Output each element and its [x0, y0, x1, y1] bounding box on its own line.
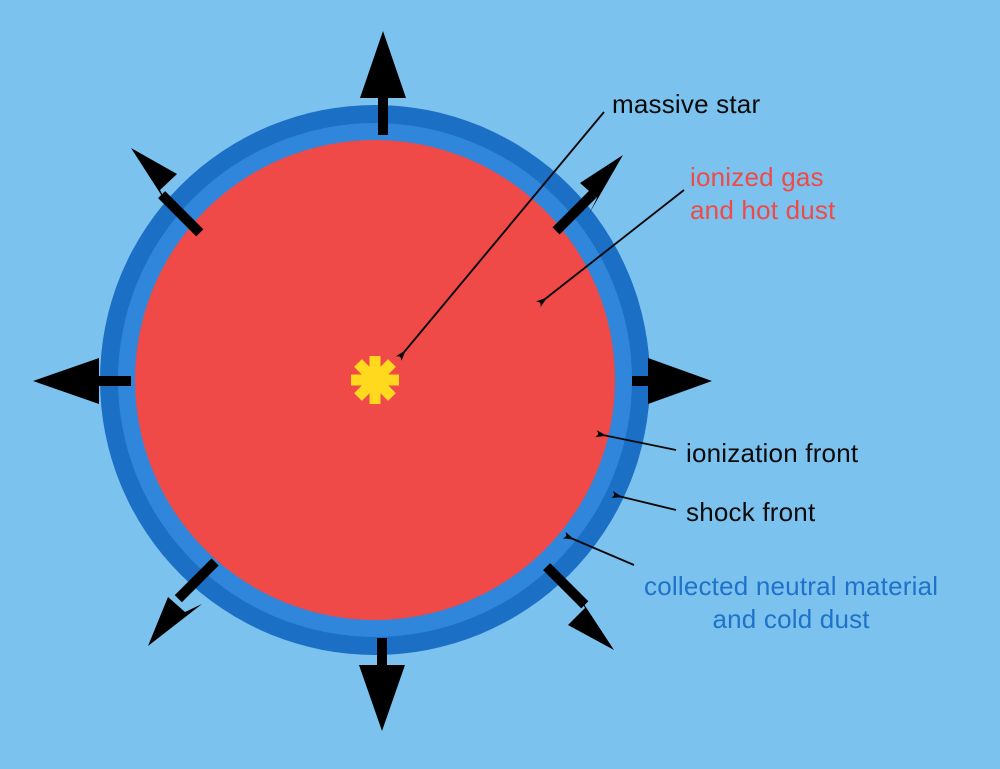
label-collected-line2: and cold dust: [644, 603, 938, 636]
label-ionized-gas-line1: ionized gas: [690, 161, 836, 194]
label-ionized-gas-line2: and hot dust: [690, 194, 836, 227]
label-massive-star: massive star: [612, 88, 760, 121]
hii-region-diagram: [0, 0, 1000, 769]
massive-star-glyph: [351, 356, 399, 404]
label-shock-front: shock front: [686, 496, 815, 529]
diagram-canvas: massive star ionized gas and hot dust io…: [0, 0, 1000, 769]
label-collected-line1: collected neutral material: [644, 570, 938, 603]
label-ionization-front: ionization front: [686, 437, 858, 470]
label-ionized-gas: ionized gas and hot dust: [690, 161, 836, 228]
label-collected-neutral-material: collected neutral material and cold dust: [644, 570, 938, 637]
